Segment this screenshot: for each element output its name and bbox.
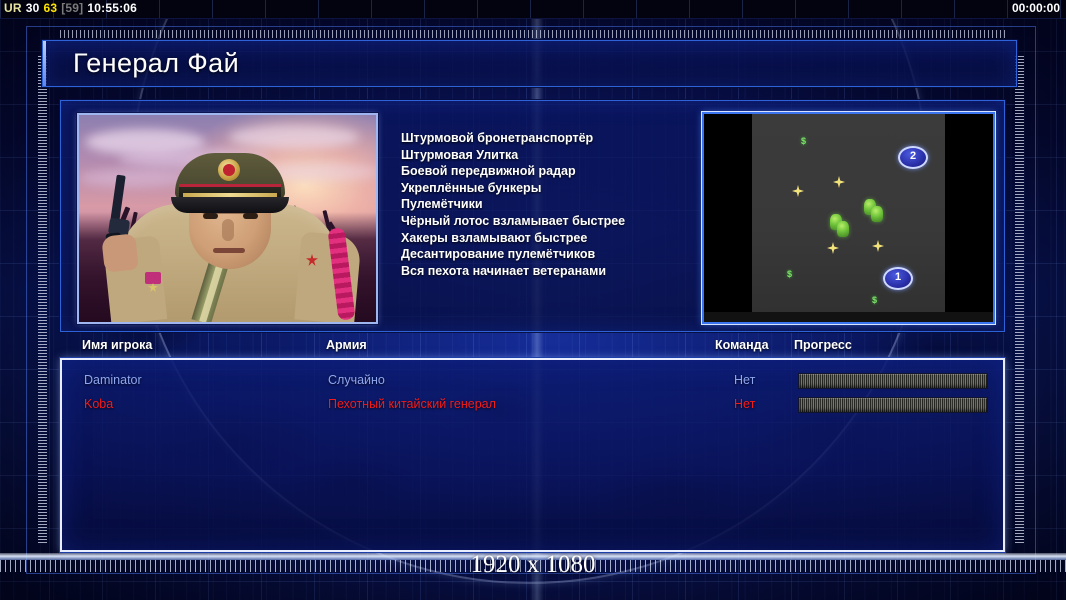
portrait-medal — [145, 272, 161, 284]
portrait-eye-right — [243, 213, 258, 219]
portrait-hand — [101, 233, 139, 272]
player-table-header: Имя игрока Армия Команда Прогресс — [60, 338, 1005, 358]
performance-readout: UR3063[59]10:55:06 — [4, 1, 141, 15]
header-army: Армия — [326, 338, 367, 352]
player-team: Нет — [734, 392, 755, 416]
title-accent-bar — [43, 41, 46, 86]
game-screen: UR3063[59]10:55:06 00:00:00 Генерал Фай — [0, 0, 1066, 600]
ability-item: Пулемётчики — [401, 196, 701, 213]
ur-value: 30 — [26, 1, 40, 15]
start-position-marker[interactable]: 2 — [898, 146, 928, 169]
ruler-ticks-right — [1015, 56, 1024, 544]
map-playable-area — [752, 114, 945, 322]
ability-item: Вся пехота начинает ветеранами — [401, 263, 701, 280]
general-ability-list: Штурмовой бронетранспортёрШтурмовая Улит… — [401, 130, 701, 279]
progress-bar — [798, 397, 988, 413]
progress-bar — [798, 373, 988, 389]
portrait-nose — [222, 219, 234, 241]
tree-cluster-icon — [871, 206, 883, 222]
ability-item: Десантирование пулемётчиков — [401, 246, 701, 263]
portrait-cap-brim — [171, 197, 289, 213]
portrait-cloud — [229, 125, 359, 149]
page-title: Генерал Фай — [73, 48, 239, 79]
start-position-marker[interactable]: 1 — [883, 267, 913, 290]
tree-cluster-icon — [837, 221, 849, 237]
portrait-eye-left — [203, 213, 218, 219]
player-list-panel: DaminatorСлучайноНетKobaПехотный китайск… — [60, 358, 1005, 552]
table-row[interactable]: DaminatorСлучайноНет — [62, 368, 1003, 392]
system-clock: 10:55:06 — [87, 1, 137, 15]
ability-item: Хакеры взламывают быстрее — [401, 230, 701, 247]
player-army: Пехотный китайский генерал — [328, 392, 496, 416]
supply-dock-icon: $ — [801, 136, 806, 146]
player-name: Koba — [84, 392, 113, 416]
ability-item: Укреплённые бункеры — [401, 180, 701, 197]
title-panel: Генерал Фай — [42, 40, 1017, 87]
header-progress: Прогресс — [794, 338, 852, 352]
ruler-ticks-left — [38, 56, 47, 544]
match-timer: 00:00:00 — [1012, 1, 1060, 15]
resolution-label: 1920 x 1080 — [0, 551, 1066, 579]
ability-item: Боевой передвижной радар — [401, 163, 701, 180]
ability-item: Штурмовая Улитка — [401, 147, 701, 164]
top-status-bar: UR3063[59]10:55:06 00:00:00 — [0, 0, 1066, 19]
map-bottom-edge — [704, 312, 993, 322]
player-army: Случайно — [328, 368, 385, 392]
map-preview[interactable]: $$$$21 — [702, 112, 995, 324]
portrait-cloud — [79, 169, 189, 187]
player-team: Нет — [734, 368, 755, 392]
fps-value: 63 — [43, 1, 57, 15]
header-team: Команда — [715, 338, 769, 352]
ruler-ticks-top — [60, 30, 1005, 38]
ur-label: UR — [4, 1, 22, 15]
ability-item: Чёрный лотос взламывает быстрее — [401, 213, 701, 230]
supply-dock-icon: $ — [872, 295, 877, 305]
cap-emblem-icon — [218, 159, 240, 181]
fps-alt-value: [59] — [61, 1, 83, 15]
general-portrait — [77, 113, 378, 324]
general-info-panel: Штурмовой бронетранспортёрШтурмовая Улит… — [60, 100, 1005, 332]
table-row[interactable]: KobaПехотный китайский генералНет — [62, 392, 1003, 416]
player-name: Daminator — [84, 368, 142, 392]
ability-item: Штурмовой бронетранспортёр — [401, 130, 701, 147]
supply-dock-icon: $ — [787, 269, 792, 279]
portrait-mouth — [213, 248, 245, 253]
header-player-name: Имя игрока — [82, 338, 152, 352]
top-status-grid — [0, 0, 1066, 18]
